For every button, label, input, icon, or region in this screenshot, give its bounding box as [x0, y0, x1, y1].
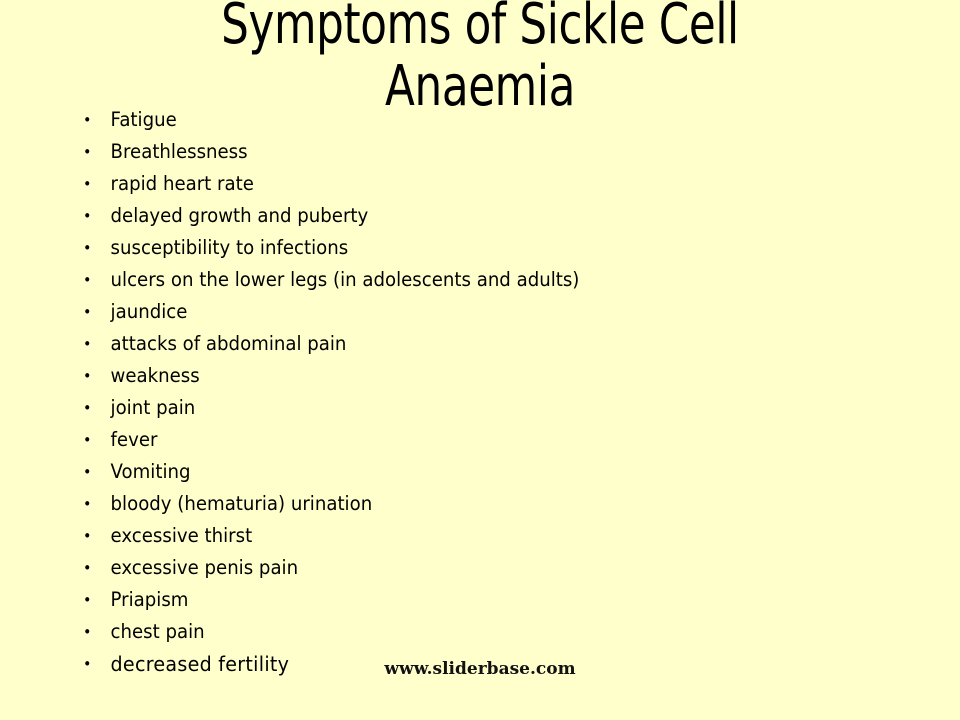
bullet-dot-icon: •	[83, 520, 92, 552]
list-item-label: Fatigue	[111, 104, 177, 136]
slide-title: Symptoms of Sickle Cell Anaemia	[106, 0, 855, 118]
list-item: • rapid heart rate	[78, 168, 878, 200]
list-item-label: weakness	[111, 360, 200, 392]
list-item-label: excessive thirst	[111, 520, 253, 552]
bullet-dot-icon: •	[83, 104, 92, 136]
list-item: • jaundice	[78, 296, 878, 328]
list-item-label: bloody (hematuria) urination	[111, 488, 373, 520]
list-item: • Fatigue	[78, 104, 878, 136]
list-item: • bloody (hematuria) urination	[78, 488, 878, 520]
list-item-label: attacks of abdominal pain	[111, 328, 347, 360]
bullet-dot-icon: •	[83, 424, 92, 456]
list-item-label: chest pain	[111, 616, 205, 648]
list-item: • excessive penis pain	[78, 552, 878, 584]
source-watermark: www.sliderbase.com	[0, 659, 960, 679]
list-item: • excessive thirst	[78, 520, 878, 552]
bullet-dot-icon: •	[83, 360, 92, 392]
list-item: • Vomiting	[78, 456, 878, 488]
list-item-label: Priapism	[111, 584, 189, 616]
list-item-label: Breathlessness	[111, 136, 248, 168]
list-item-label: joint pain	[111, 392, 196, 424]
symptoms-bullet-list: • Fatigue • Breathlessness • rapid heart…	[78, 104, 938, 680]
list-item-label: excessive penis pain	[111, 552, 299, 584]
slide-canvas: Symptoms of Sickle Cell Anaemia • Fatigu…	[0, 0, 960, 720]
bullet-dot-icon: •	[83, 584, 92, 616]
list-item: • ulcers on the lower legs (in adolescen…	[78, 264, 878, 296]
bullet-dot-icon: •	[83, 296, 92, 328]
list-item: • weakness	[78, 360, 878, 392]
list-item: • attacks of abdominal pain	[78, 328, 878, 360]
list-item-label: jaundice	[111, 296, 188, 328]
bullet-dot-icon: •	[83, 456, 92, 488]
bullet-dot-icon: •	[83, 488, 92, 520]
list-item: • fever	[78, 424, 878, 456]
list-item: • joint pain	[78, 392, 878, 424]
list-item-label: susceptibility to infections	[111, 232, 349, 264]
list-item-label: rapid heart rate	[111, 168, 254, 200]
bullet-dot-icon: •	[83, 552, 92, 584]
list-item: • susceptibility to infections	[78, 232, 878, 264]
bullet-dot-icon: •	[83, 264, 92, 296]
bullet-dot-icon: •	[83, 232, 92, 264]
list-item-label: Vomiting	[111, 456, 191, 488]
list-item: • Priapism	[78, 584, 878, 616]
list-item-label: fever	[111, 424, 158, 456]
bullet-dot-icon: •	[83, 168, 92, 200]
list-item: • chest pain	[78, 616, 878, 648]
list-item: • delayed growth and puberty	[78, 200, 878, 232]
bullet-dot-icon: •	[83, 200, 92, 232]
list-item-label: ulcers on the lower legs (in adolescents…	[111, 264, 580, 296]
bullet-dot-icon: •	[83, 392, 92, 424]
bullet-dot-icon: •	[83, 328, 92, 360]
bullet-dot-icon: •	[83, 136, 92, 168]
list-item-label: delayed growth and puberty	[111, 200, 369, 232]
bullet-dot-icon: •	[83, 616, 92, 648]
list-item: • Breathlessness	[78, 136, 878, 168]
